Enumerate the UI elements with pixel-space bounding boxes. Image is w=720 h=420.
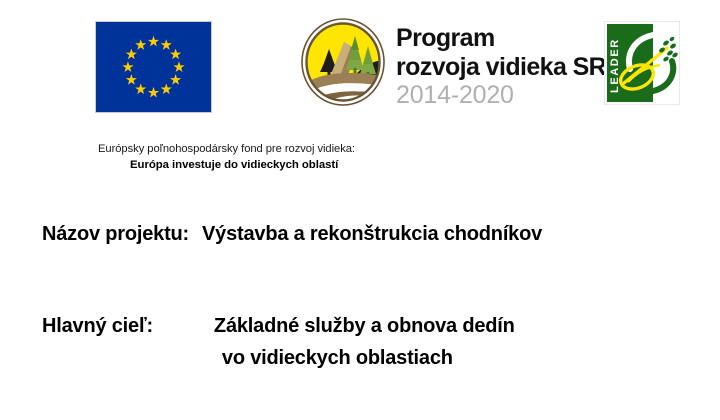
field-row-project: Názov projektu: Výstavba a rekonštrukcia… [42, 223, 542, 246]
project-name-label: Názov projektu: [42, 223, 189, 246]
prv-period: 2014-2020 [396, 83, 606, 108]
main-goal-value-line-1: Základné služby a obnova dedín [214, 315, 515, 337]
eu-caption-line-1: Európsky poľnohospodársky fond pre rozvo… [98, 142, 378, 157]
logo-band: Európsky poľnohospodársky fond pre rozvo… [0, 0, 720, 170]
prv-title-line-1: Program [396, 26, 606, 51]
poster-page: Európsky poľnohospodársky fond pre rozvo… [0, 0, 720, 420]
project-details: Názov projektu: Výstavba a rekonštrukcia… [0, 170, 720, 420]
eu-caption: Európsky poľnohospodársky fond pre rozvo… [98, 142, 378, 172]
leader-logo-block: LEADER [604, 21, 680, 105]
project-name-value-line-1: Výstavba a rekonštrukcia chodníkov [202, 223, 542, 245]
prv-title-line-2: rozvoja vidieka SR [396, 55, 606, 80]
project-name-value: Výstavba a rekonštrukcia chodníkov [202, 223, 542, 246]
main-goal-value: Základné služby a obnova dedín vo vidiec… [214, 315, 515, 370]
prv-wordmark: Program rozvoja vidieka SR 2014-2020 [396, 26, 606, 108]
leader-logo-icon: LEADER [604, 21, 680, 105]
eu-stars-icon [96, 22, 211, 112]
field-row-main-goal: Hlavný cieľ: Základné služby a obnova de… [42, 315, 515, 370]
eu-flag-icon [95, 21, 212, 113]
rural-development-circle-icon [298, 16, 388, 108]
leader-wordmark-text: LEADER [609, 38, 621, 93]
main-goal-label: Hlavný cieľ: [42, 315, 153, 338]
main-goal-value-line-2: vo vidieckych oblastiach [214, 347, 515, 370]
prv-logo-block: Program rozvoja vidieka SR 2014-2020 [298, 16, 606, 108]
eu-emblem-block: Európsky poľnohospodársky fond pre rozvo… [95, 21, 212, 113]
